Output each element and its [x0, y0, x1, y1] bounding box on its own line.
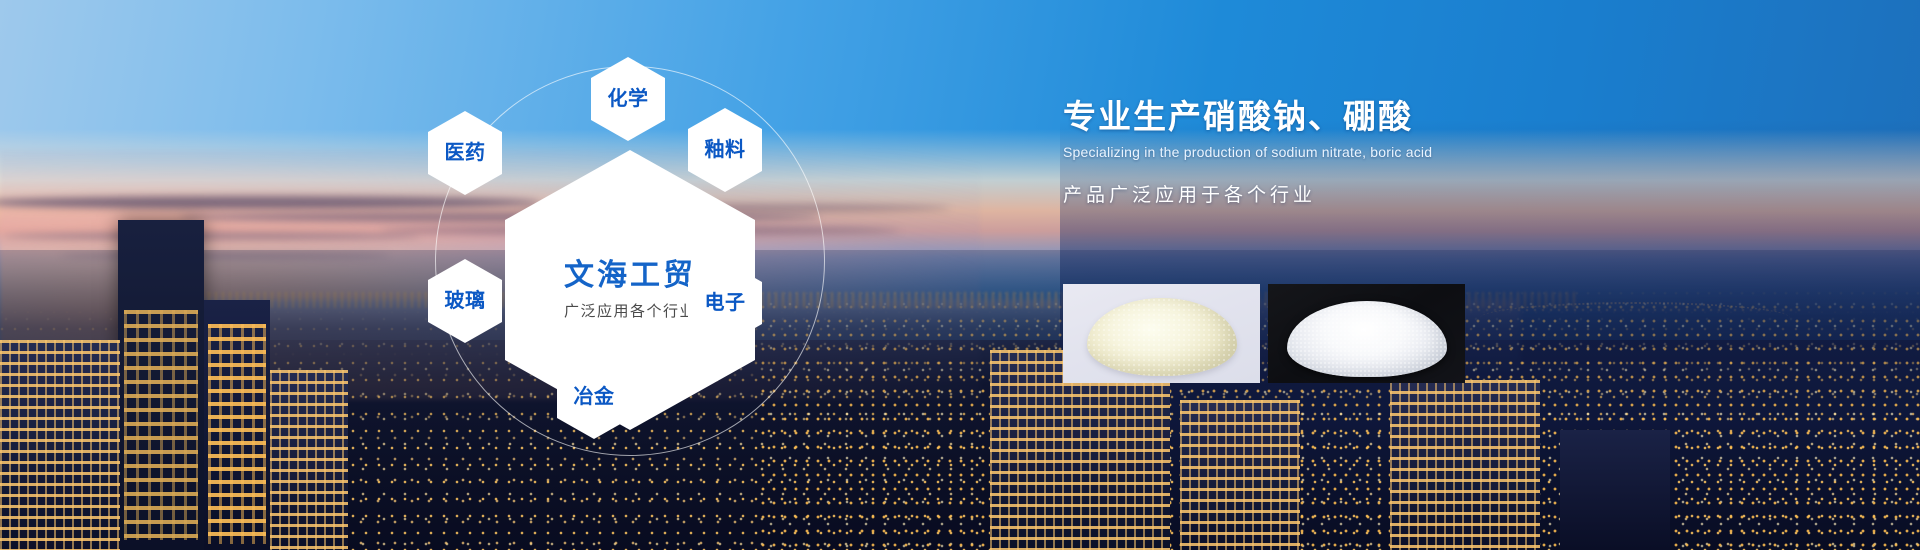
hexagon-label: 釉料 [705, 140, 746, 160]
marketing-copy-block: 专业生产硝酸钠、硼酸 Specializing in the productio… [1063, 96, 1863, 207]
product-photo-sodium-nitrate[interactable] [1063, 284, 1260, 383]
hexagon-label: 冶金 [574, 387, 615, 407]
building-silhouette [1390, 380, 1540, 550]
building-silhouette [1560, 430, 1670, 550]
promo-banner: 文海工贸 广泛应用各个行业 化学 釉料 电子 冶金 玻璃 医药 专业生产硝酸钠、… [0, 0, 1920, 550]
product-photo-boric-acid[interactable] [1268, 284, 1465, 383]
headline: 专业生产硝酸钠、硼酸 [1063, 96, 1863, 137]
product-photo-strip [1063, 284, 1465, 383]
building-silhouette [1180, 400, 1300, 550]
powder-pile [1087, 298, 1237, 376]
tagline: 产品广泛应用于各个行业 [1063, 180, 1863, 207]
hexagon-label: 化学 [608, 89, 649, 109]
powder-pile [1287, 301, 1447, 377]
hexagon-label: 医药 [445, 143, 486, 163]
powder-grain-texture [1087, 298, 1237, 376]
industry-hexagon-wheel: 文海工贸 广泛应用各个行业 化学 釉料 电子 冶金 玻璃 医药 [0, 0, 920, 550]
company-tagline: 广泛应用各个行业 [564, 300, 696, 321]
hexagon-label: 电子 [705, 293, 746, 313]
powder-grain-texture [1287, 301, 1447, 377]
company-name: 文海工贸 [564, 259, 696, 292]
hexagon-label: 玻璃 [445, 291, 486, 311]
english-subheadline: Specializing in the production of sodium… [1063, 144, 1863, 160]
